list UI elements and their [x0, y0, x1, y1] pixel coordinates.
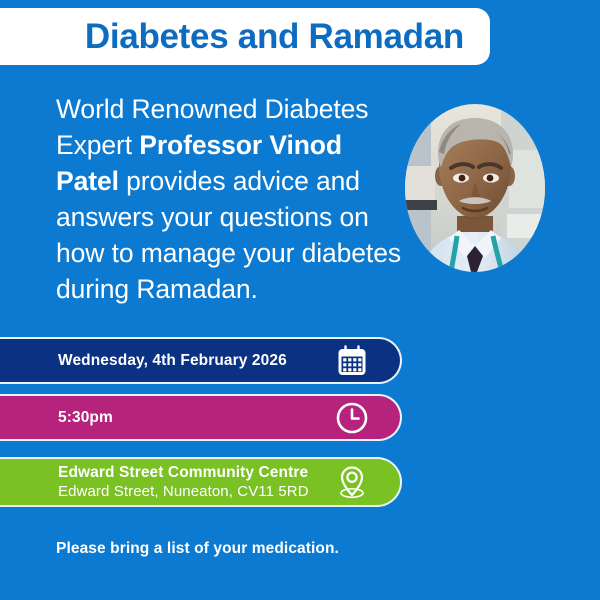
info-bar-time: 5:30pm [0, 394, 402, 441]
avatar [405, 104, 545, 272]
body-line-6: during Ramadan. [56, 274, 258, 304]
portrait-photo-illustration [405, 104, 545, 272]
footer-note: Please bring a list of your medication. [56, 540, 339, 558]
body-line-1: World Renowned Diabetes [56, 94, 368, 124]
body-copy: World Renowned Diabetes Expert Professor… [56, 92, 408, 307]
page-title: Diabetes and Ramadan [85, 19, 464, 54]
info-bar-time-text: 5:30pm [0, 408, 332, 427]
body-line-2-prefix: Expert [56, 130, 139, 160]
body-line-5: manage your diabetes [141, 238, 401, 268]
venue-name: Edward Street Community Centre [58, 463, 332, 482]
info-bar-venue-text: Edward Street Community Centre Edward St… [0, 463, 332, 502]
clock-icon [332, 398, 372, 438]
map-pin-icon [332, 462, 372, 502]
info-bar-venue: Edward Street Community Centre Edward St… [0, 457, 402, 507]
title-banner: Diabetes and Ramadan [0, 8, 490, 65]
info-bar-date-text: Wednesday, 4th February 2026 [0, 351, 332, 370]
calendar-icon [332, 341, 372, 381]
poster-canvas: Diabetes and Ramadan World Renowned Diab… [0, 0, 600, 600]
info-bar-date: Wednesday, 4th February 2026 [0, 337, 402, 384]
venue-address: Edward Street, Nuneaton, CV11 5RD [58, 482, 332, 502]
event-date: Wednesday, 4th February 2026 [58, 351, 332, 370]
event-time: 5:30pm [58, 408, 332, 427]
